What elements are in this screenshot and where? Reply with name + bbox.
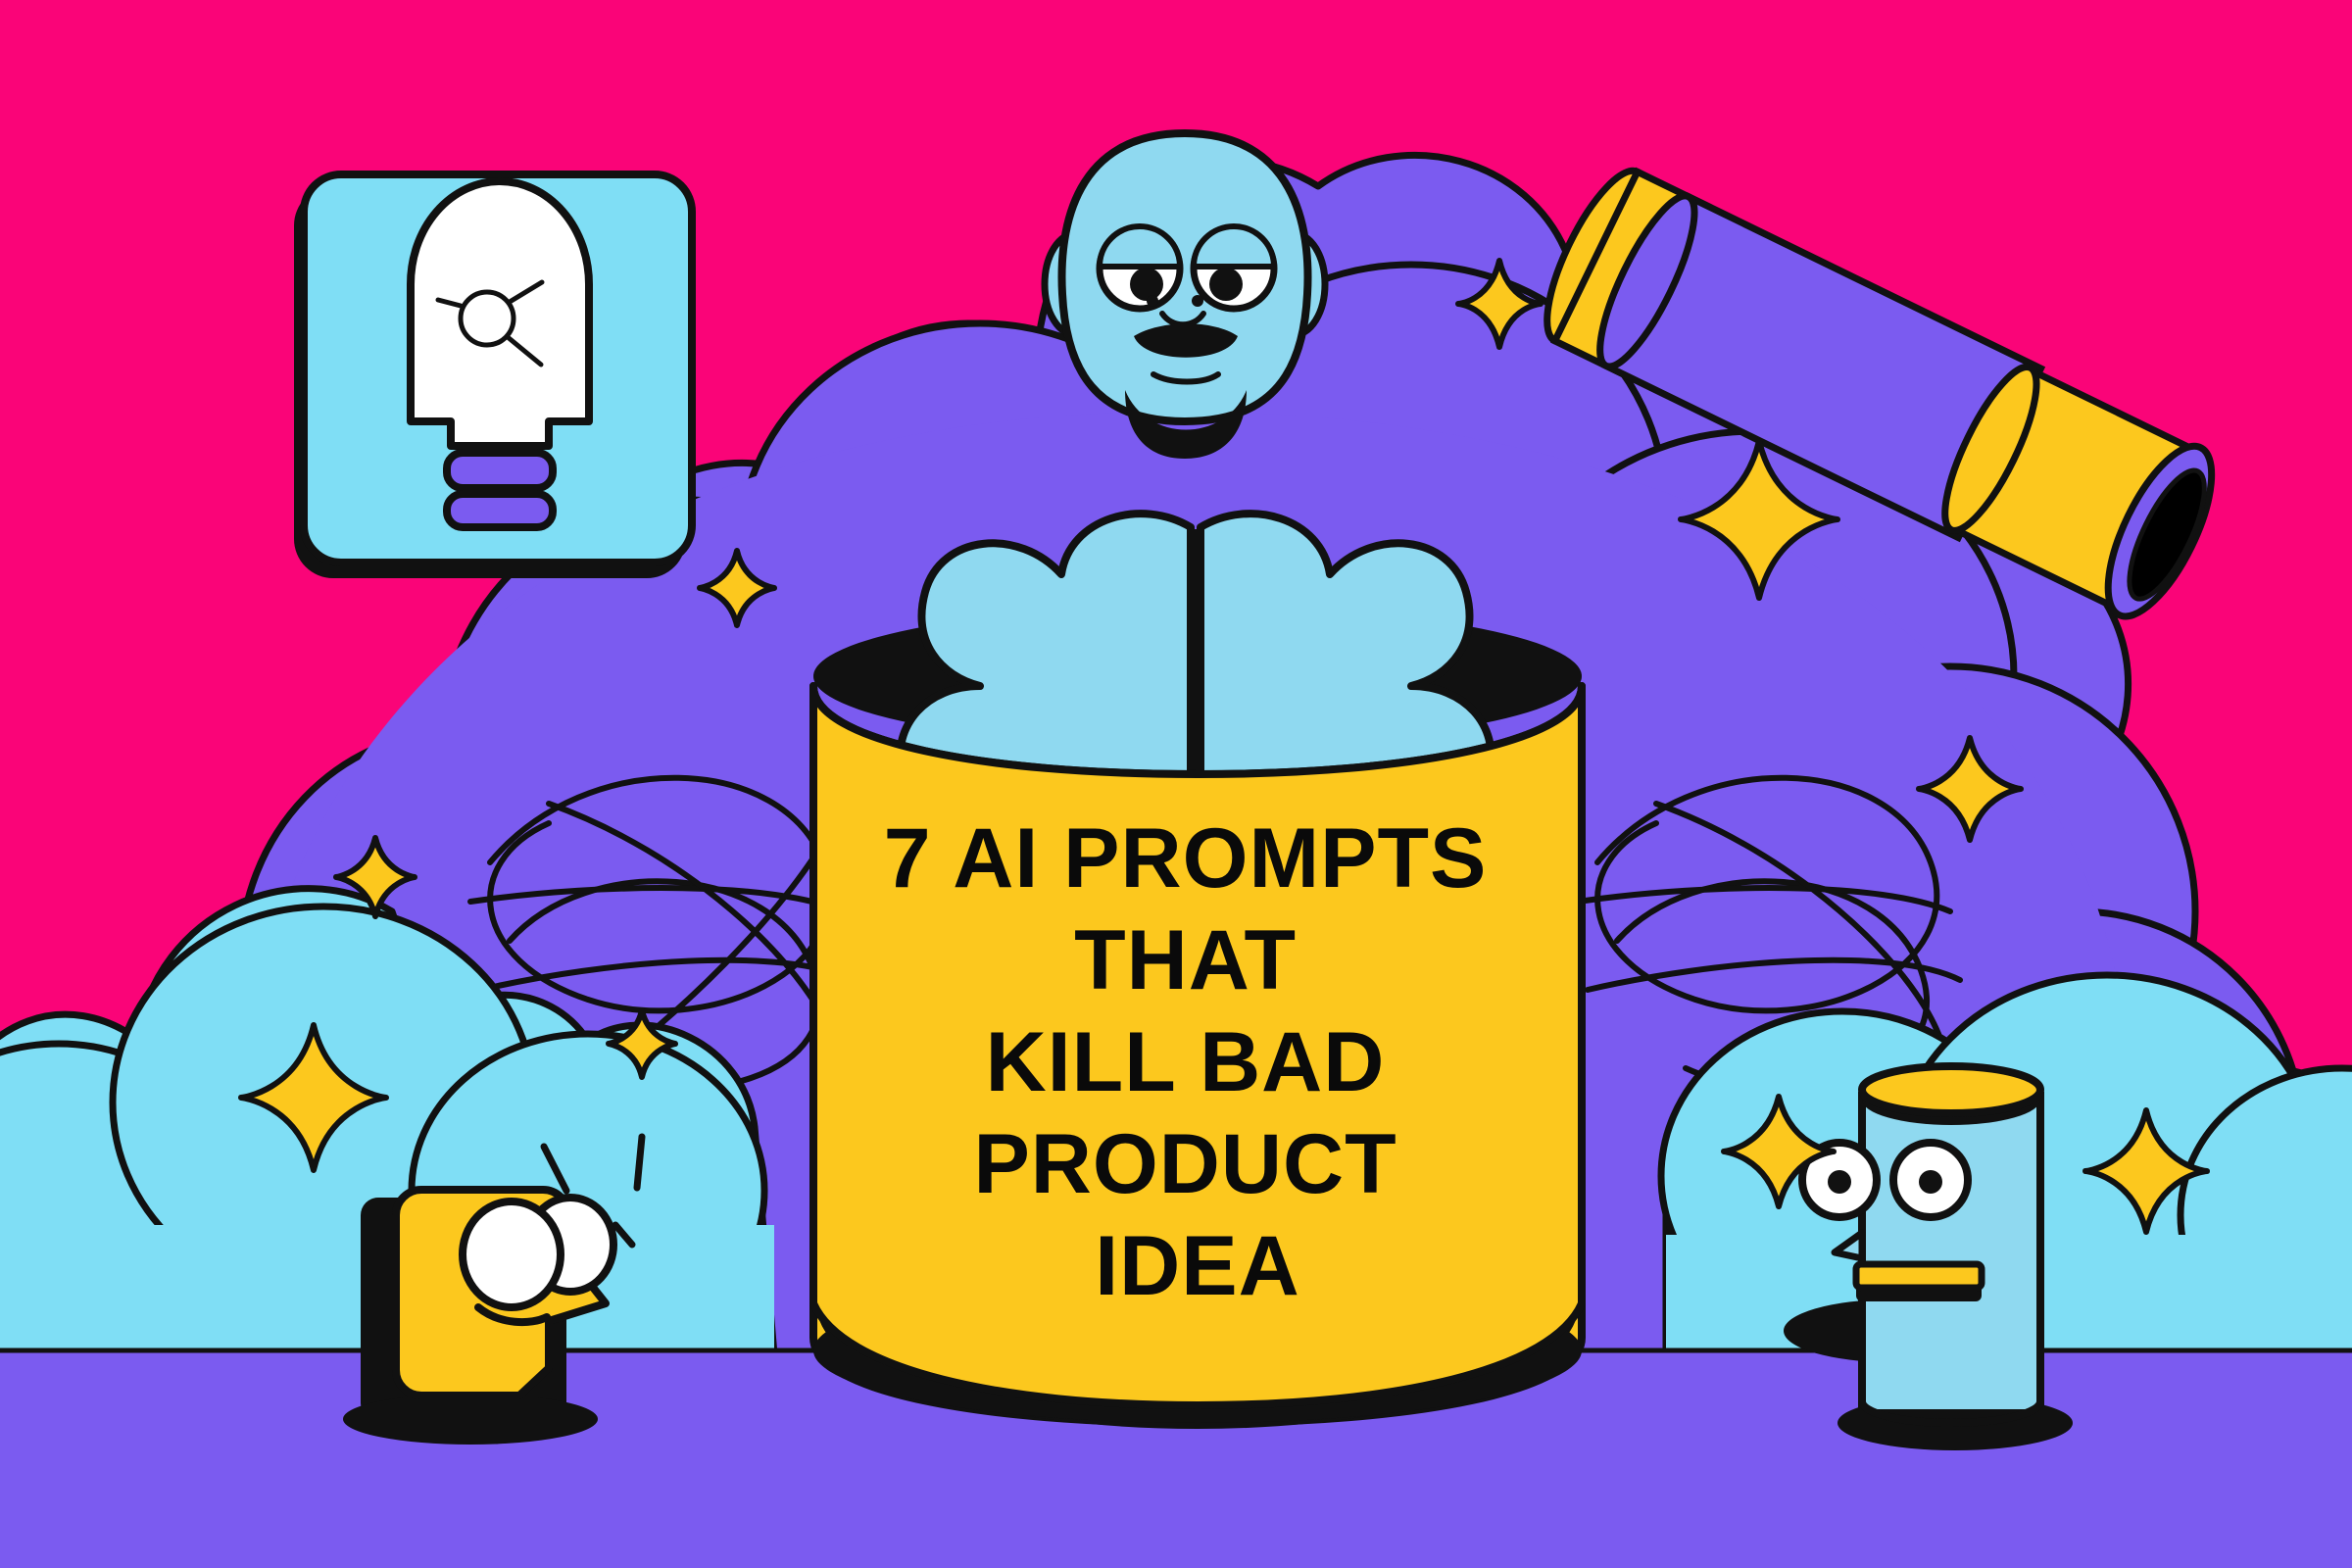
lightbulb-glass xyxy=(411,181,589,446)
idea-lightbulb-card[interactable] xyxy=(294,174,692,578)
thinker-eye-right xyxy=(1194,226,1274,309)
title-line-2: THAT xyxy=(1074,913,1297,1007)
lightbulb-base-ring-top xyxy=(447,453,553,488)
illustration-poster: 7 AI PROMPTS THAT KILL BAD PRODUCT IDEA xyxy=(0,0,2352,1568)
lightbulb-base-ring-bottom xyxy=(447,494,553,527)
thinker-nostril-right xyxy=(1192,295,1203,307)
thinker-eye-left xyxy=(1100,226,1180,309)
cyan-can-mouth xyxy=(1856,1264,1982,1288)
title-line-5: IDEA xyxy=(1095,1219,1299,1313)
title-line-4: PRODUCT xyxy=(973,1117,1396,1211)
cyan-can-body xyxy=(1862,1096,2040,1413)
title-line-1: 7 AI PROMPTS xyxy=(884,811,1488,906)
thinker-nostril-left xyxy=(1147,295,1158,307)
cyan-can-rim xyxy=(1862,1066,2040,1113)
cyan-can-pupil-right xyxy=(1919,1170,1942,1194)
title-line-3: KILL BAD xyxy=(986,1015,1386,1109)
cyan-can-pupil-left xyxy=(1828,1170,1851,1194)
yellow-character-eye-front xyxy=(463,1201,561,1307)
